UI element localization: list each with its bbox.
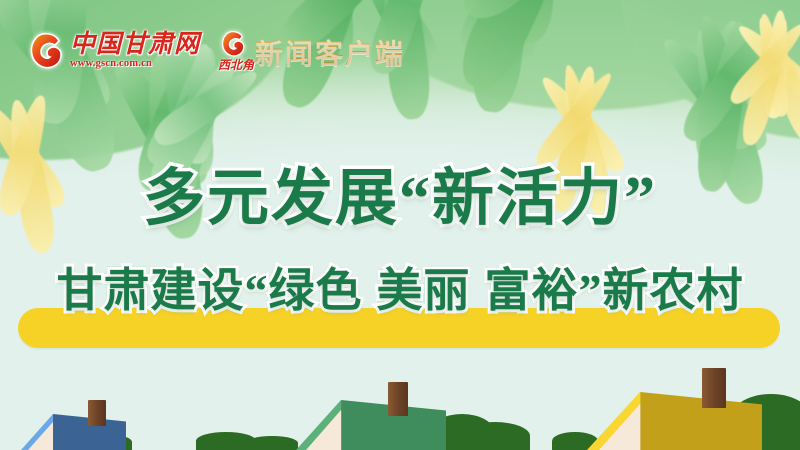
site-brand-text: 中国甘肃网 www.gscn.com.cn xyxy=(70,32,200,70)
site-brand[interactable]: 中国甘肃网 www.gscn.com.cn xyxy=(28,30,200,72)
xibeijiao-swoosh-icon xyxy=(220,29,246,59)
page-title-text: 多元发展“新活力” xyxy=(143,165,657,233)
site-url: www.gscn.com.cn xyxy=(70,59,200,70)
subtitle-part-2: 美丽 xyxy=(377,265,471,316)
app-mark: 西北角 xyxy=(218,29,252,73)
page-subtitle: 甘肃建设“绿色美丽富裕”新农村 xyxy=(0,268,800,314)
poster-canvas: 中国甘肃网 www.gscn.com.cn xyxy=(0,0,800,450)
house-green-mid-icon xyxy=(286,398,446,450)
village-illustration xyxy=(0,340,800,450)
app-name: 新闻客户端 xyxy=(255,32,405,73)
gansu-net-swoosh-icon xyxy=(28,30,64,72)
house-chimney xyxy=(702,368,726,408)
house-gold-right-icon xyxy=(576,390,762,450)
subtitle-part-1: 甘肃建设“绿色 xyxy=(57,265,363,316)
bush-6-icon xyxy=(460,422,530,450)
app-sub-mark: 西北角 xyxy=(218,56,254,73)
house-chimney xyxy=(388,382,408,416)
masthead: 中国甘肃网 www.gscn.com.cn xyxy=(28,26,405,76)
site-name: 中国甘肃网 xyxy=(70,32,200,57)
subtitle-part-3: 富裕”新农村 xyxy=(485,265,744,316)
app-brand[interactable]: 西北角 新闻客户端 xyxy=(218,29,405,73)
page-title: 多元发展“新活力” xyxy=(0,168,800,230)
house-blue-icon xyxy=(14,412,126,450)
house-chimney xyxy=(88,400,106,426)
